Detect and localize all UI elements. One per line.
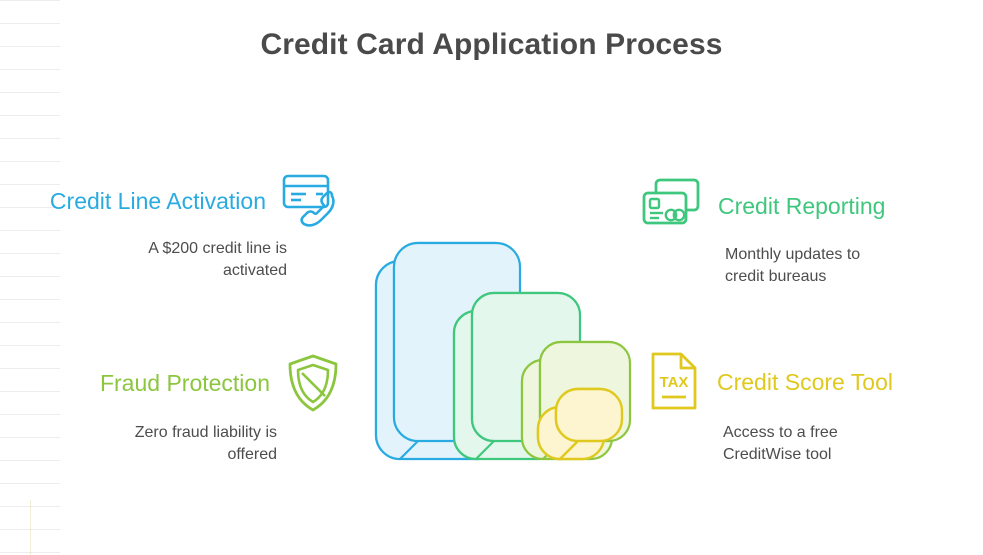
- feature-title: Fraud Protection: [100, 369, 270, 398]
- feature-description: A $200 credit line is activated: [40, 238, 342, 282]
- feature-credit-score-tool: TAX Credit Score Tool Access to a free C…: [645, 350, 955, 466]
- feature-heading-row: Fraud Protection: [30, 352, 342, 414]
- feature-description: Zero fraud liability is offered: [30, 422, 342, 466]
- tax-icon-label: TAX: [660, 374, 689, 391]
- nested-card-stack-graphic: [330, 195, 640, 490]
- feature-credit-line-activation: Credit Line Activation A $200 credit lin…: [40, 172, 342, 282]
- feature-title: Credit Line Activation: [50, 187, 266, 216]
- feature-title: Credit Reporting: [718, 192, 885, 221]
- feature-heading-row: Credit Reporting: [640, 176, 950, 236]
- feature-title: Credit Score Tool: [717, 368, 893, 397]
- feature-heading-row: Credit Line Activation: [40, 172, 342, 230]
- stacked-cards-icon: [640, 176, 704, 236]
- feature-credit-reporting: Credit Reporting Monthly updates to cred…: [640, 176, 950, 288]
- page-title: Credit Card Application Process: [0, 28, 983, 62]
- feature-fraud-protection: Fraud Protection Zero fraud liability is…: [30, 352, 342, 466]
- feature-heading-row: TAX Credit Score Tool: [645, 350, 955, 414]
- paper-margin-line: [30, 500, 31, 555]
- feature-description: Monthly updates to credit bureaus: [640, 244, 950, 288]
- feature-description: Access to a free CreditWise tool: [645, 422, 955, 466]
- tax-document-icon: TAX: [645, 350, 703, 414]
